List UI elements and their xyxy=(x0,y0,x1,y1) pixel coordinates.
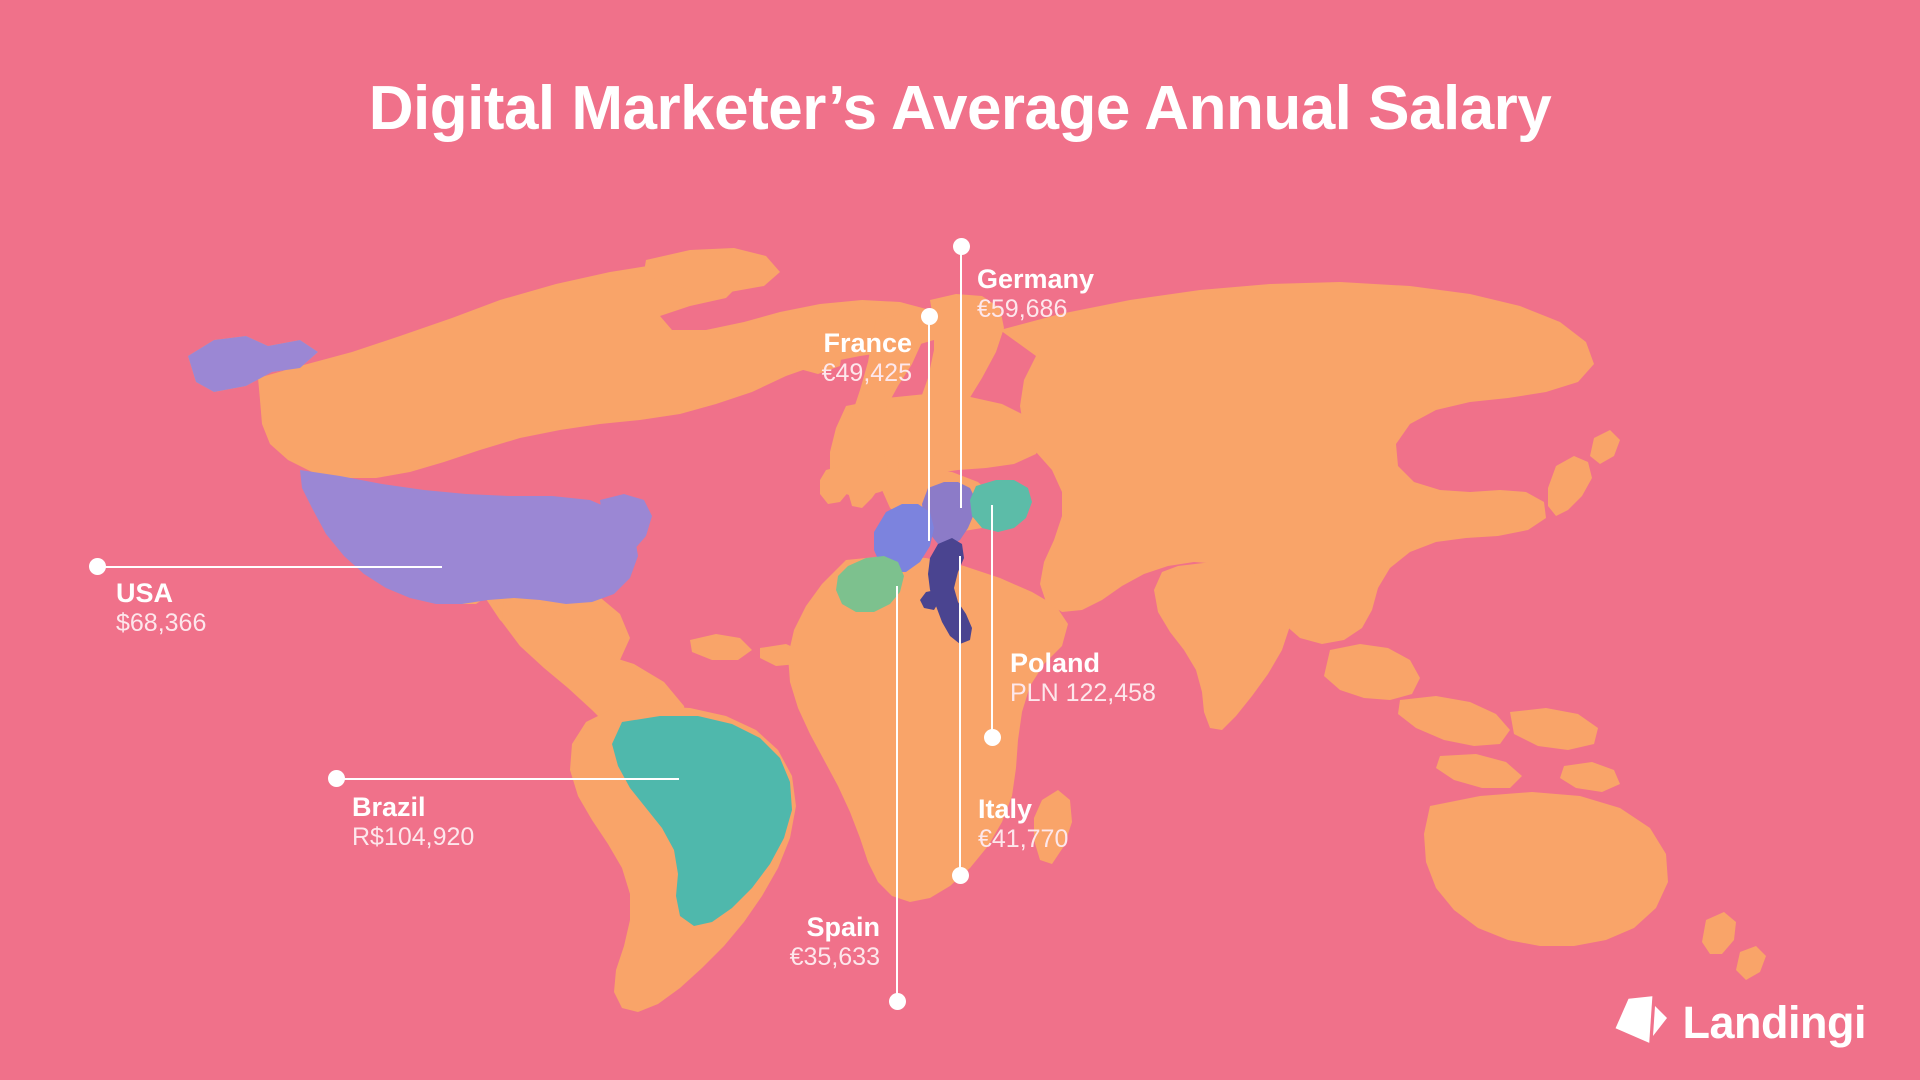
callout-value-france: €49,425 xyxy=(580,358,912,388)
callout-country-italy: Italy xyxy=(978,794,1068,824)
callout-country-usa: USA xyxy=(116,578,206,608)
callout-value-usa: $68,366 xyxy=(116,608,206,638)
world-map xyxy=(0,0,1920,1080)
land-southeast-asia xyxy=(1324,644,1620,792)
leader-line-france xyxy=(928,316,930,541)
landingi-wordmark: Landingi xyxy=(1683,1000,1866,1045)
callout-usa: USA $68,366 xyxy=(116,578,206,638)
leader-line-usa xyxy=(97,566,442,568)
callout-germany: Germany €59,686 xyxy=(977,264,1094,324)
land-japan xyxy=(1548,430,1620,516)
callout-value-italy: €41,770 xyxy=(978,824,1068,854)
leader-dot-poland xyxy=(984,729,1001,746)
callout-poland: Poland PLN 122,458 xyxy=(1010,648,1156,708)
country-poland xyxy=(970,480,1032,532)
land-caribbean xyxy=(690,634,804,666)
leader-line-germany xyxy=(960,246,962,508)
page-title: Digital Marketer’s Average Annual Salary xyxy=(0,78,1920,140)
country-usa xyxy=(300,470,652,604)
leader-line-italy xyxy=(959,556,961,875)
leader-dot-usa xyxy=(89,558,106,575)
landingi-diamond-icon xyxy=(1611,996,1669,1048)
callout-country-brazil: Brazil xyxy=(352,792,474,822)
land-new-zealand xyxy=(1702,912,1766,980)
callout-value-spain: €35,633 xyxy=(548,942,880,972)
leader-line-spain xyxy=(896,586,898,1001)
callout-value-poland: PLN 122,458 xyxy=(1010,678,1156,708)
leader-line-poland xyxy=(991,505,993,737)
land-asia xyxy=(1000,282,1594,644)
leader-line-brazil xyxy=(336,778,679,780)
callout-value-brazil: R$104,920 xyxy=(352,822,474,852)
callout-italy: Italy €41,770 xyxy=(978,794,1068,854)
callout-country-poland: Poland xyxy=(1010,648,1156,678)
callout-france: France €49,425 xyxy=(580,328,912,388)
callout-country-spain: Spain xyxy=(548,912,880,942)
callout-spain: Spain €35,633 xyxy=(548,912,880,972)
leader-dot-spain xyxy=(889,993,906,1010)
landingi-logo[interactable]: Landingi xyxy=(1611,996,1866,1048)
callout-country-france: France xyxy=(580,328,912,358)
callout-value-germany: €59,686 xyxy=(977,294,1094,324)
land-australia xyxy=(1424,792,1668,946)
land-india xyxy=(1154,562,1290,730)
leader-dot-italy xyxy=(952,867,969,884)
leader-dot-germany xyxy=(953,238,970,255)
callout-brazil: Brazil R$104,920 xyxy=(352,792,474,852)
map-landmasses xyxy=(188,248,1766,1012)
callout-country-germany: Germany xyxy=(977,264,1094,294)
leader-dot-france xyxy=(921,308,938,325)
infographic-canvas: Digital Marketer’s Average Annual Salary… xyxy=(0,0,1920,1080)
leader-dot-brazil xyxy=(328,770,345,787)
